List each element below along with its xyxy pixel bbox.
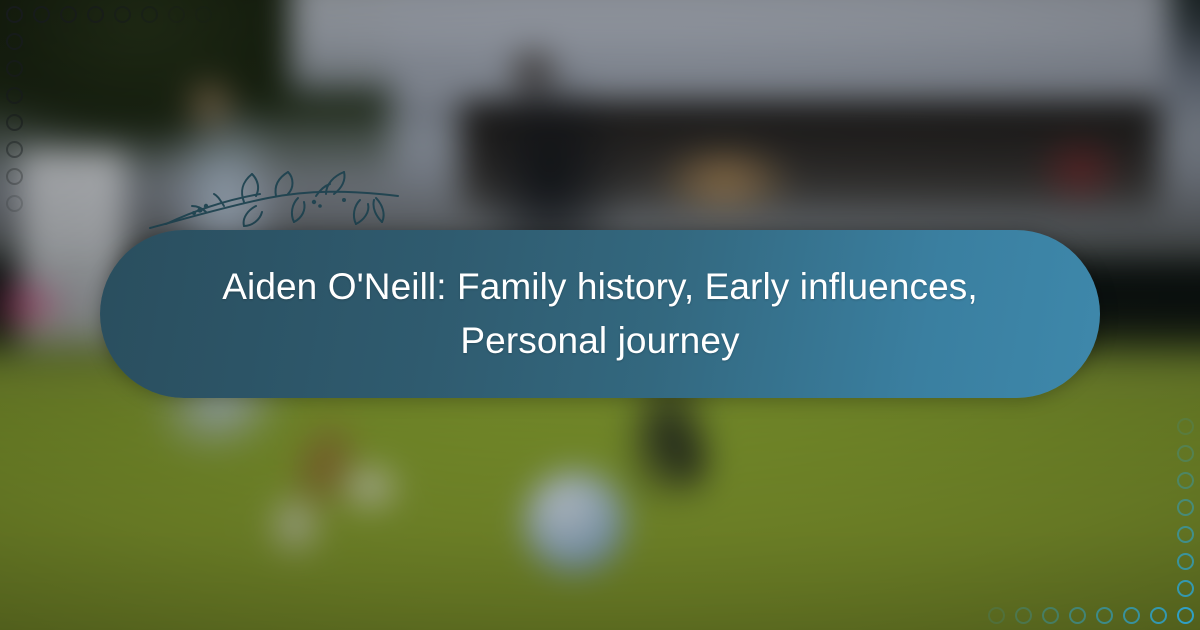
title-banner: Aiden O'Neill: Family history, Early inf… [100,230,1100,398]
background-player-dark-head [505,40,561,102]
page-title: Aiden O'Neill: Family history, Early inf… [190,260,1010,367]
background-spectator-red [1035,135,1125,205]
background-soccer-ball [525,472,625,572]
background-shoe-a [335,460,405,515]
background-barrier [290,0,1170,90]
background-shoe-b [265,490,325,560]
background-spectator-warm [650,140,800,220]
floral-branch-ornament [148,166,410,236]
background-player-light-head [182,72,238,134]
background-sock-dark [650,400,730,520]
share-card: Aiden O'Neill: Family history, Early inf… [0,0,1200,630]
